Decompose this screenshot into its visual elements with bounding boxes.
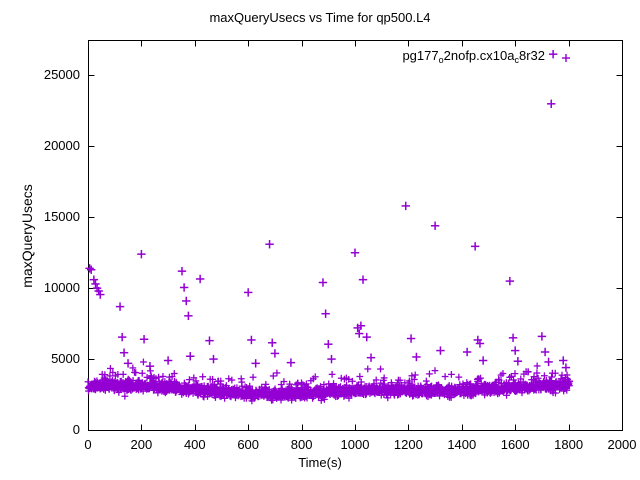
plot-canvas: [0, 0, 640, 480]
axis-ticks: [89, 41, 623, 431]
x-tick-label: 2000: [592, 438, 640, 451]
y-tick-label: 0: [20, 423, 80, 436]
x-tick-label: 200: [111, 438, 171, 451]
x-tick-label: 1800: [539, 438, 599, 451]
x-tick-label: 1200: [378, 438, 438, 451]
x-tick-label: 800: [272, 438, 332, 451]
y-axis-title: maxQueryUsecs: [19, 136, 35, 336]
y-tick-label: 20000: [20, 139, 80, 152]
legend-entry-label: pg177o2nofp.cx10ac8r32: [300, 48, 545, 63]
axis-frame: [89, 41, 623, 431]
x-tick-label: 1400: [432, 438, 492, 451]
x-tick-label: 400: [165, 438, 225, 451]
chart-title: maxQueryUsecs vs Time for qp500.L4: [0, 10, 640, 26]
x-tick-label: 1600: [485, 438, 545, 451]
y-tick-label: 5000: [20, 352, 80, 365]
x-tick-label: 1000: [325, 438, 385, 451]
y-tick-label: 15000: [20, 210, 80, 223]
x-tick-label: 0: [58, 438, 118, 451]
y-tick-label: 25000: [20, 68, 80, 81]
x-tick-label: 600: [218, 438, 278, 451]
legend-sample-marker: [562, 54, 570, 62]
scatter-plot-figure: maxQueryUsecs vs Time for qp500.L4 maxQu…: [0, 0, 640, 480]
y-tick-label: 10000: [20, 281, 80, 294]
data-points-series: [85, 50, 573, 404]
x-axis-title: Time(s): [0, 455, 640, 470]
